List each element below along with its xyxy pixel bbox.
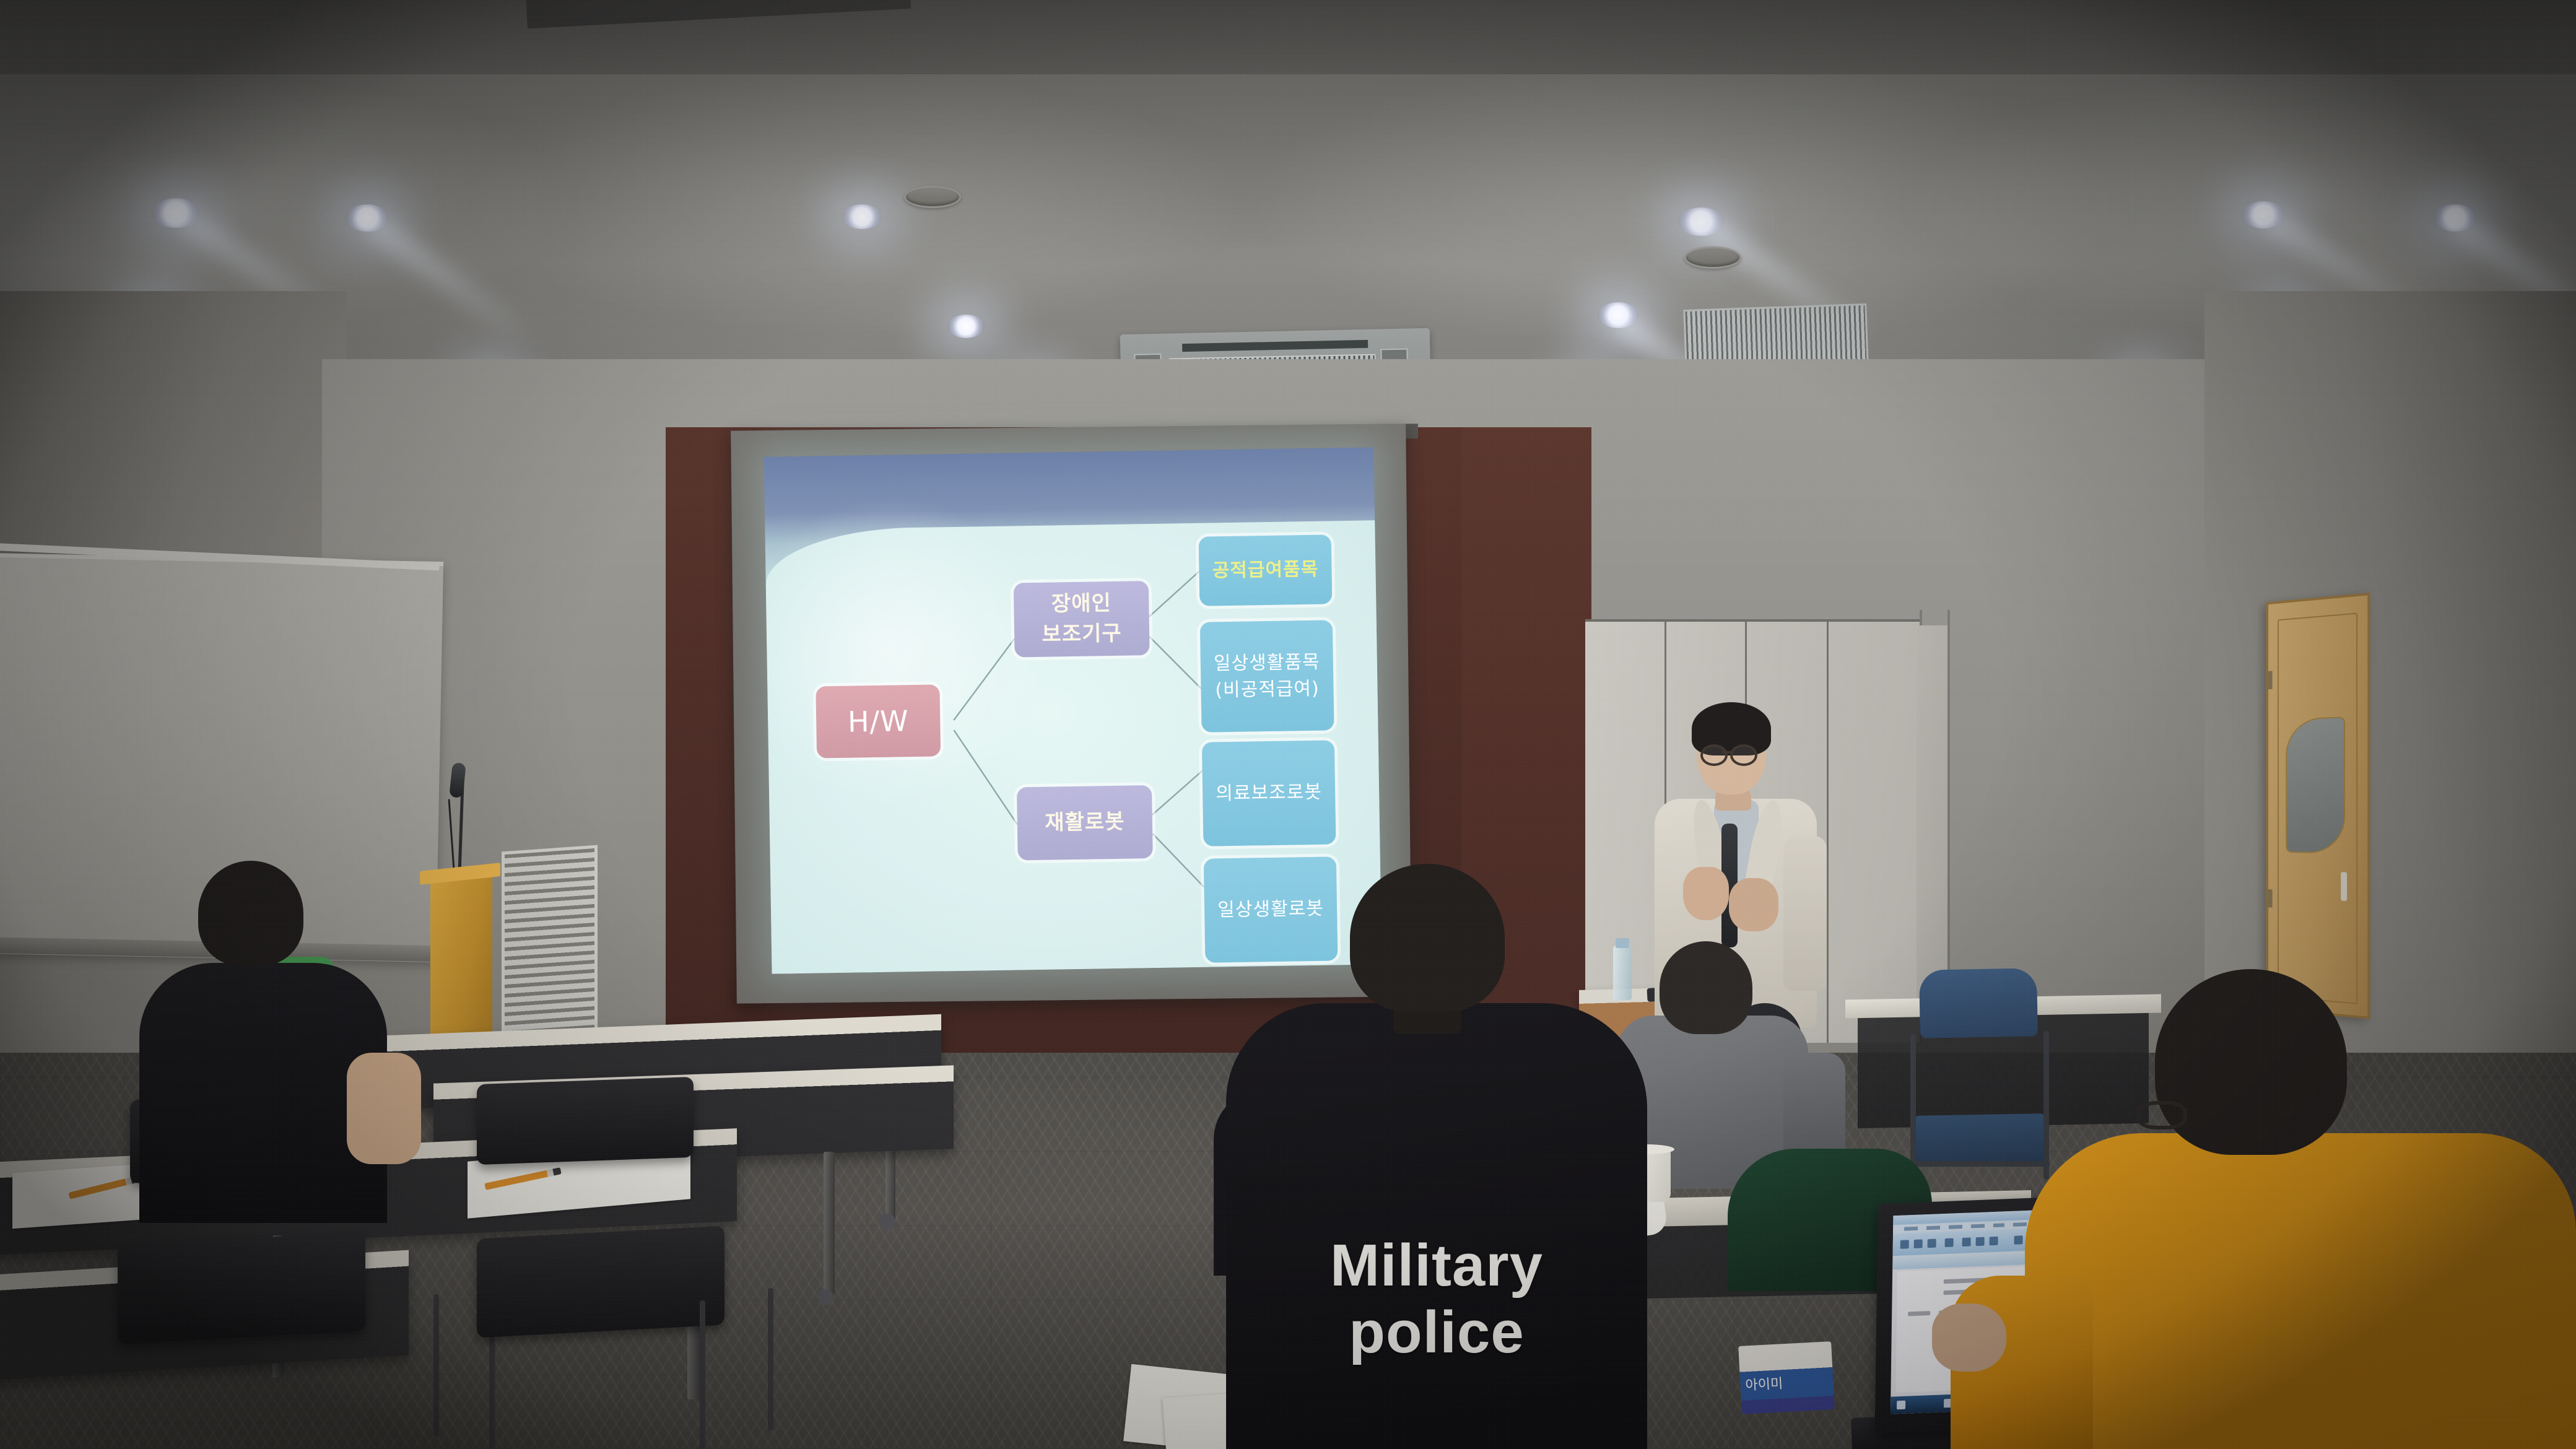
- smoke-detector-icon: [904, 186, 961, 208]
- jacket-text: Military police: [1226, 1232, 1647, 1365]
- diagram-node-branch-2: 재활로봇: [1017, 785, 1153, 860]
- blue-stacking-chair-back[interactable]: [1919, 968, 2038, 1038]
- table-caster: [879, 1214, 895, 1230]
- ac-slot: [1182, 340, 1368, 352]
- table-leg: [824, 1152, 835, 1294]
- door[interactable]: [2266, 593, 2370, 1019]
- snack-box-label: 아이미: [1745, 1372, 1783, 1394]
- snack-box[interactable]: 아이미: [1738, 1341, 1835, 1414]
- blue-stacking-chair-seat[interactable]: [1913, 1113, 2047, 1165]
- black-tshirt-head: [198, 861, 303, 966]
- chair-leg: [433, 1294, 439, 1437]
- diagram-node-leaf-4: 일상생활로봇: [1204, 856, 1338, 962]
- eyeglasses-icon: [1730, 744, 1757, 766]
- chair-leg: [768, 1288, 773, 1430]
- eyeglasses-icon: [2136, 1101, 2187, 1129]
- node-label-line1: 일상생활품목: [1214, 648, 1320, 677]
- diagram-node-root: H/W: [816, 684, 941, 758]
- node-label-line1: 재활로봇: [1045, 807, 1125, 838]
- chair-leg: [700, 1300, 705, 1449]
- taskbar-icon[interactable]: [1897, 1401, 1905, 1410]
- table-caster: [817, 1289, 833, 1305]
- chair-frame: [1913, 1161, 2050, 1167]
- projector-glow: [764, 490, 1055, 817]
- orange-shirt-head: [2155, 969, 2347, 1155]
- wall-louver-vent: [502, 845, 598, 1044]
- jacket-text-line2: police: [1226, 1299, 1647, 1366]
- ceiling-light: [947, 315, 985, 338]
- node-label-line1: 장애인: [1051, 588, 1112, 620]
- presenter-hand-right: [1729, 878, 1778, 931]
- eyeglasses-icon: [1700, 744, 1728, 766]
- grey-shirt-head: [1660, 941, 1752, 1034]
- black-tshirt-arm: [347, 1053, 421, 1164]
- chair[interactable]: [477, 1077, 694, 1165]
- mp-head: [1350, 864, 1505, 1012]
- node-label-line1: 일상생활로봇: [1217, 895, 1324, 924]
- cabinet-seam: [1827, 622, 1829, 1043]
- node-label-line2: (비공적급여): [1215, 676, 1320, 704]
- diagram-node-leaf-2: 일상생활품목 (비공적급여): [1200, 620, 1334, 732]
- podium: [430, 871, 492, 1043]
- eyeglasses-bridge: [1723, 751, 1731, 754]
- diagram-node-branch-1: 장애인 보조기구: [1014, 581, 1150, 657]
- diagram-node-leaf-1: 공적급여품목: [1199, 534, 1333, 606]
- node-label-line2: 보조기구: [1042, 619, 1122, 650]
- orange-shirt-hand: [1932, 1303, 2006, 1372]
- node-label-line1: 의료보조로봇: [1216, 779, 1322, 807]
- door-handle[interactable]: [2341, 872, 2347, 901]
- chair[interactable]: [477, 1226, 724, 1338]
- chair-frame: [1910, 1034, 1916, 1177]
- bottle-cap: [1616, 938, 1629, 948]
- presentation-slide: H/W 장애인 보조기구 재활로봇 공적급여품목 일상생활품목 (비공적급여) …: [764, 447, 1382, 973]
- chair-frame: [2043, 1031, 2049, 1180]
- ceiling-light: [842, 204, 882, 229]
- mp-jacket: [1226, 1003, 1647, 1449]
- presenter-hand-left: [1683, 867, 1729, 920]
- cabinet-right-panel: [1917, 625, 1947, 1022]
- diagram-node-leaf-3: 의료보조로봇: [1202, 740, 1336, 846]
- node-label: H/W: [847, 700, 909, 742]
- door-glass-panel: [2286, 716, 2345, 854]
- lecture-room-scene: H/W 장애인 보조기구 재활로봇 공적급여품목 일상생활품목 (비공적급여) …: [0, 0, 2576, 1449]
- jacket-text-line1: Military: [1226, 1232, 1647, 1299]
- door-hinge: [2267, 671, 2272, 689]
- document-text-line: [1908, 1311, 1930, 1316]
- chair[interactable]: [118, 1232, 365, 1344]
- node-label-line1: 공적급여품목: [1212, 556, 1318, 585]
- ceiling-soffit: [0, 0, 2576, 74]
- water-bottle[interactable]: [1613, 946, 1632, 1000]
- smoke-detector-icon: [1684, 246, 1741, 269]
- door-hinge: [2267, 889, 2272, 908]
- presenter-arm: [1783, 836, 1827, 991]
- orange-shirt-torso: [2025, 1133, 2576, 1449]
